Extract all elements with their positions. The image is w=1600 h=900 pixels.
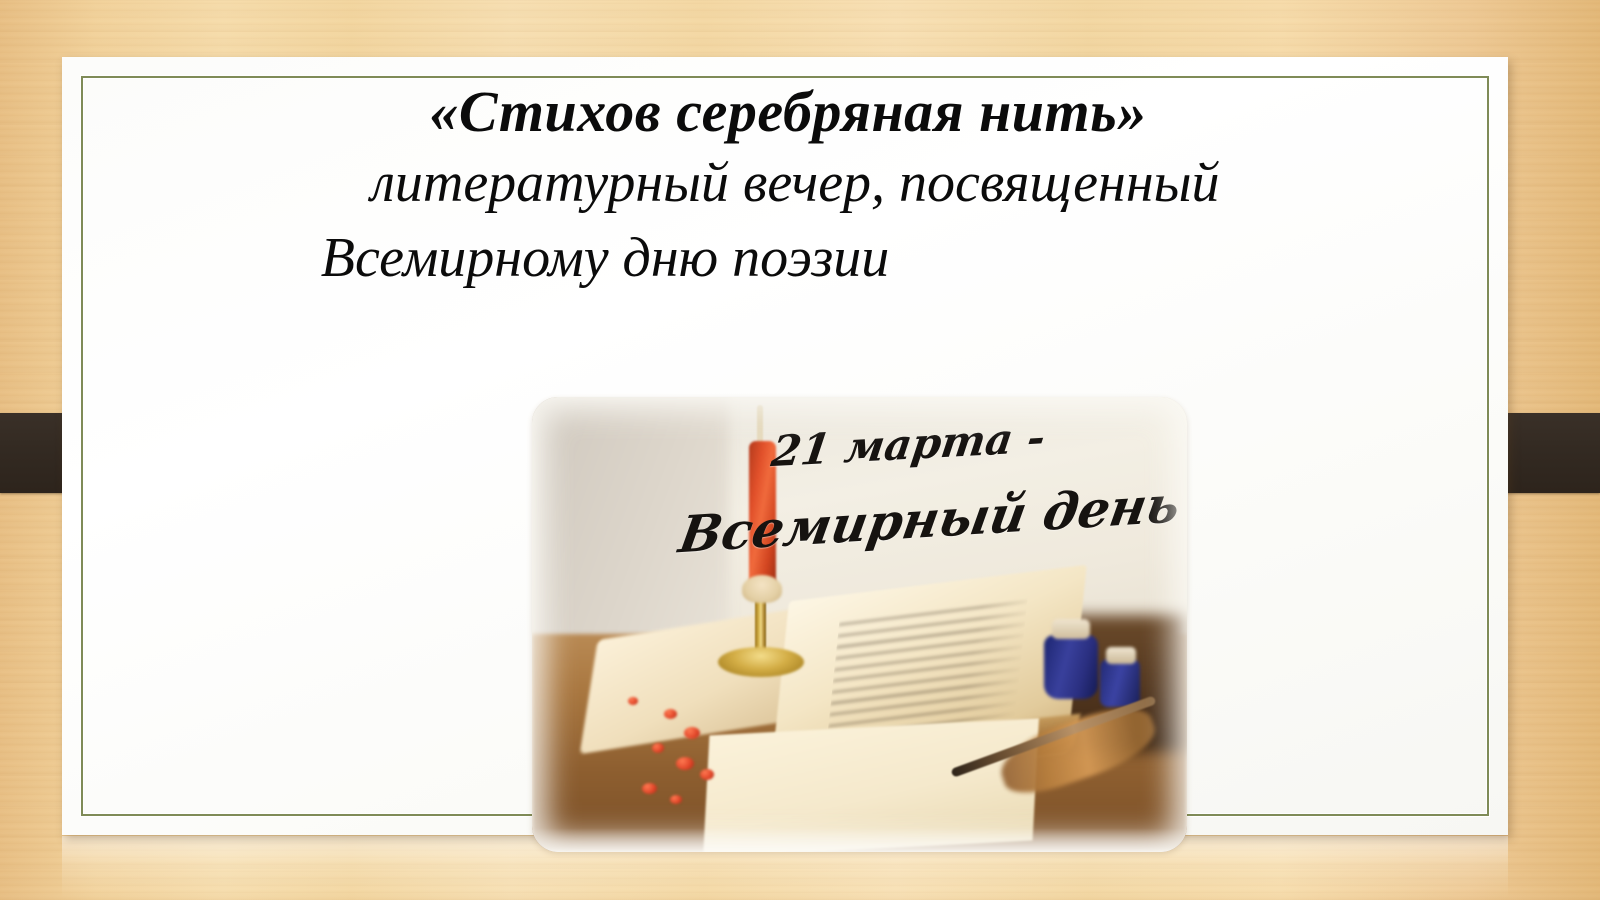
blue-inkwell-cap <box>1052 619 1090 639</box>
sealing-wax-crumb <box>670 795 682 804</box>
blue-inkwell <box>1044 635 1098 699</box>
sealing-wax-crumb <box>676 757 694 770</box>
right-dark-tab <box>1497 413 1600 493</box>
sealing-wax-crumb <box>684 727 700 739</box>
sealing-wax-crumb <box>642 783 657 794</box>
candle-melted-wax <box>742 575 782 603</box>
sealing-wax-crumb <box>664 709 677 719</box>
slide-title-block: «Стихов серебряная нить» литературный ве… <box>62 79 1508 295</box>
title-line-secondary: литературный вечер, посвященный <box>62 145 1508 221</box>
title-line-primary: «Стихов серебряная нить» <box>62 79 1508 145</box>
sealing-wax-crumb <box>652 743 664 753</box>
loose-paper-sheet <box>703 718 1039 852</box>
candlestick-base <box>718 647 804 677</box>
sealing-wax-crumb <box>700 769 714 780</box>
title-line-tertiary: Всемирному дню поэзии <box>62 221 1508 295</box>
small-blue-inkwell-cap <box>1106 647 1136 664</box>
small-blue-inkwell <box>1100 659 1140 707</box>
presentation-slide: «Стихов серебряная нить» литературный ве… <box>0 0 1600 900</box>
poetry-day-still-life-photo: 21 марта - Всемирный день поэзии <box>532 397 1187 852</box>
sealing-wax-crumb <box>628 697 638 705</box>
slide-content-panel: «Стихов серебряная нить» литературный ве… <box>62 57 1508 835</box>
